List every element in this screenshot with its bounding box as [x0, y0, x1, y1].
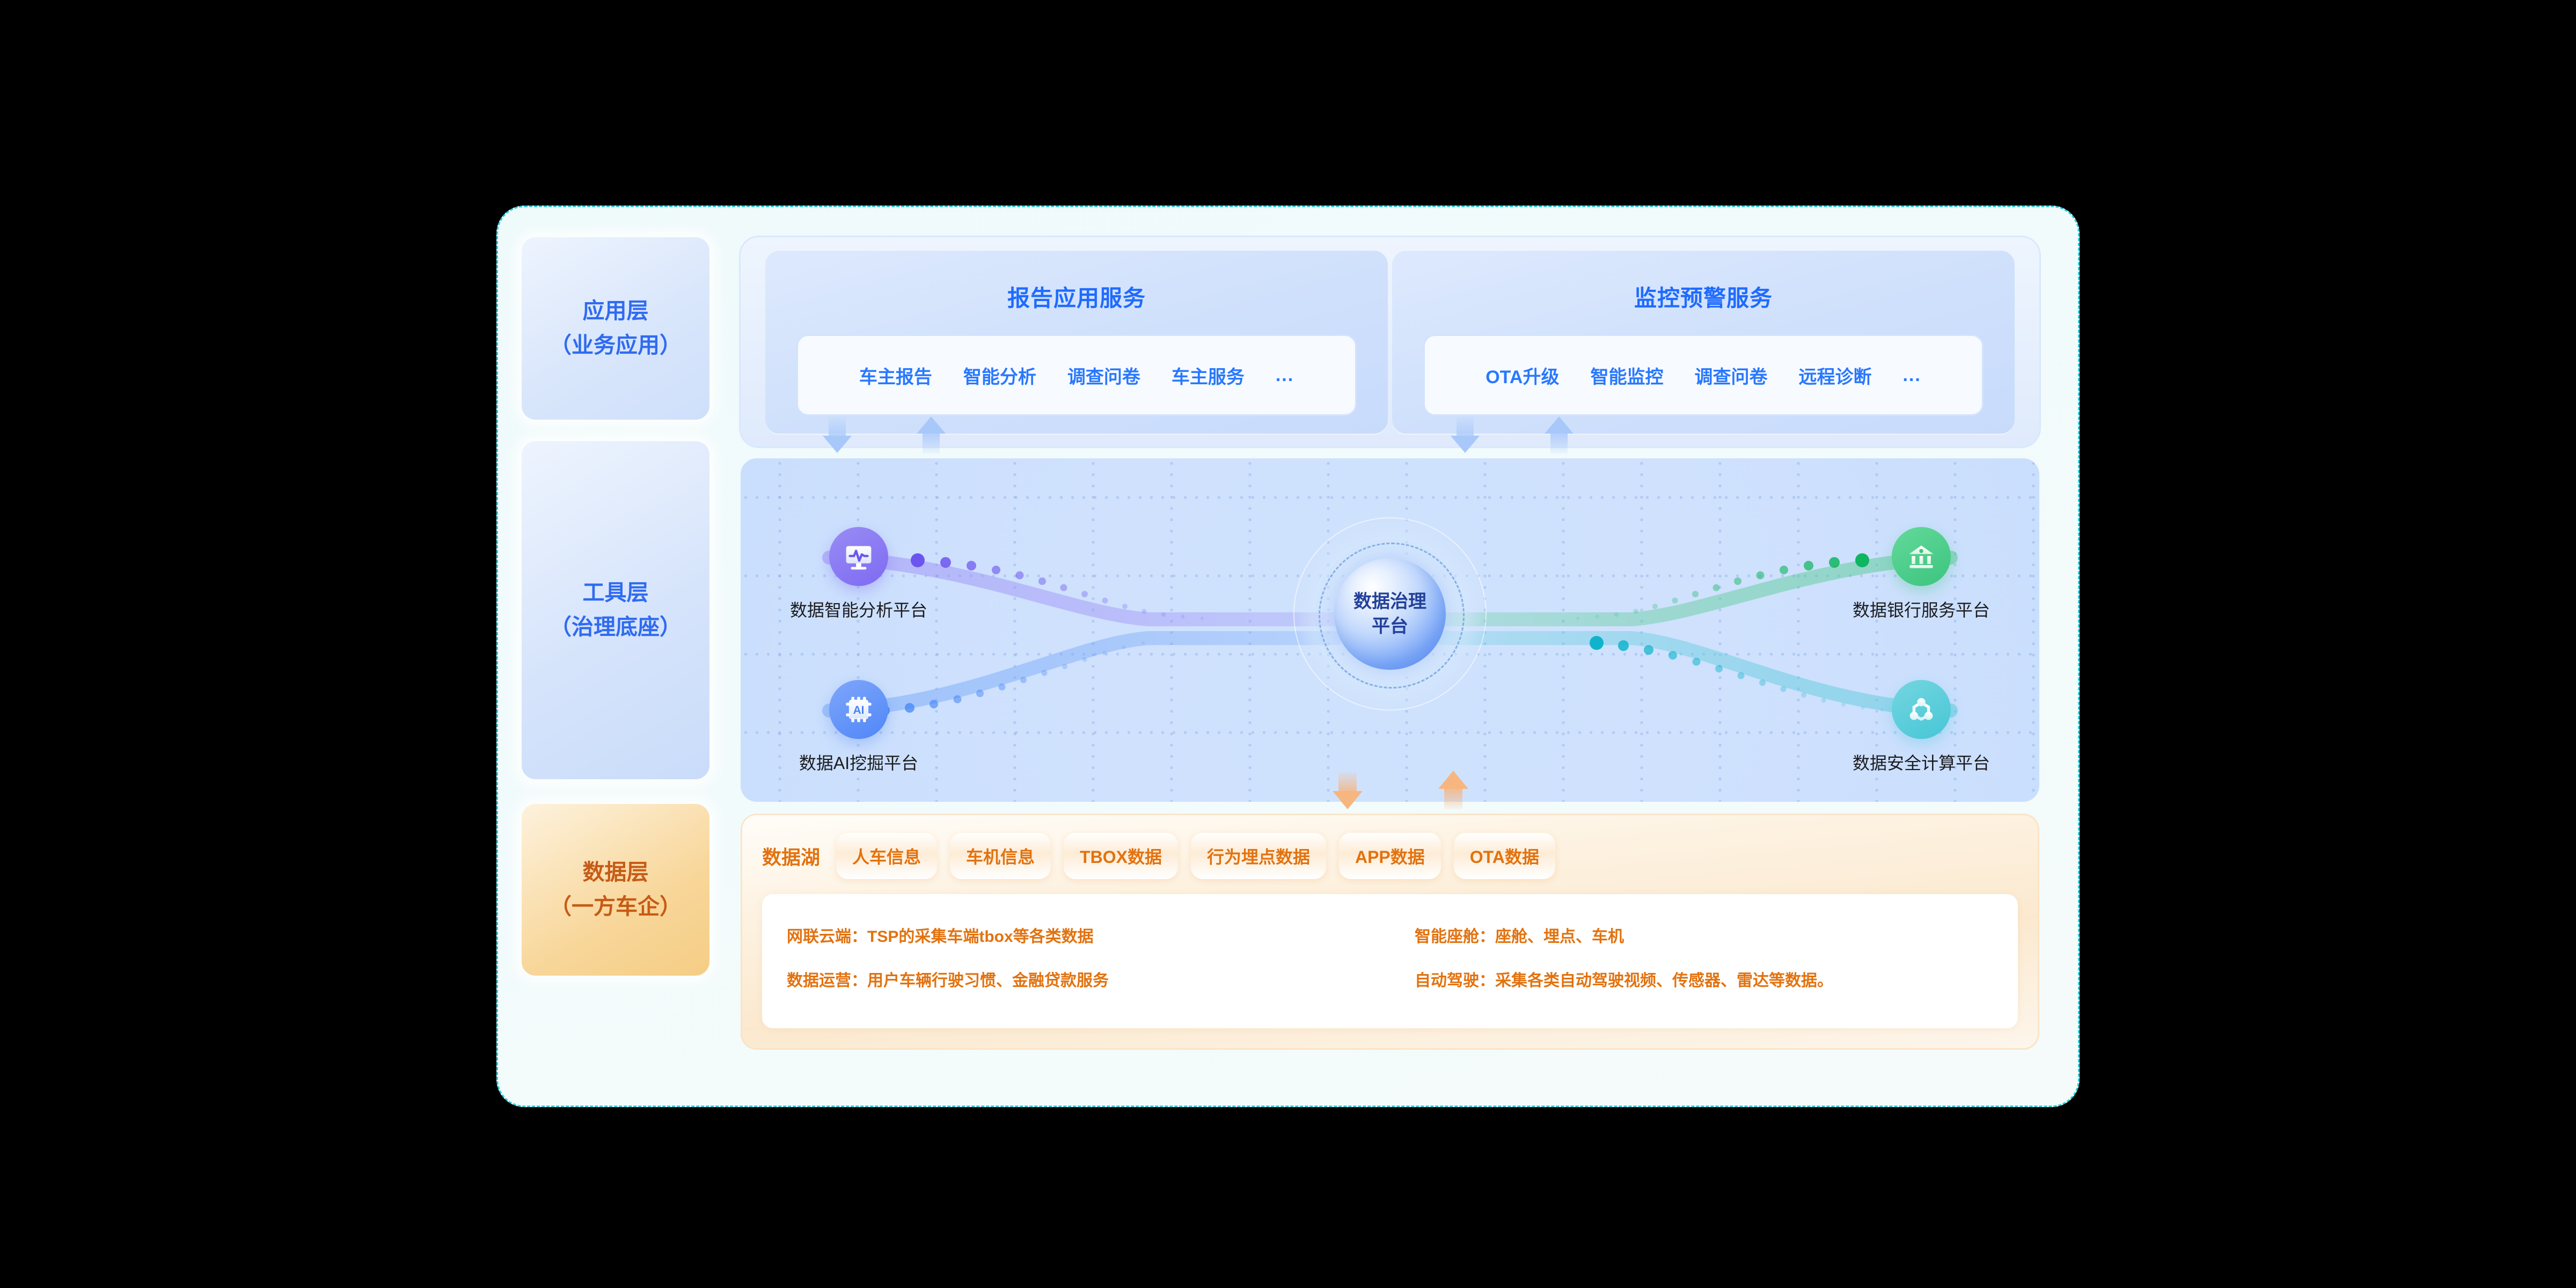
layer-chip-data-subtitle: （一方车企）	[550, 890, 682, 924]
data-layer-panel: 数据湖 人车信息 车机信息 TBOX数据 行为埋点数据 APP数据 OTA数据 …	[741, 814, 2039, 1050]
service-tag[interactable]: 远程诊断	[1798, 362, 1871, 389]
service-tag[interactable]: OTA升级	[1485, 362, 1559, 389]
data-description-line: 智能座舱：座舱、埋点、车机	[1415, 923, 2018, 947]
svg-text:AI: AI	[853, 704, 865, 716]
service-card-monitor-tags: OTA升级 智能监控 调查问卷 远程诊断 ...	[1423, 334, 1984, 416]
data-description-column-right: 智能座舱：座舱、埋点、车机 自动驾驶：采集各类自动驾驶视频、传感器、雷达等数据。	[1390, 894, 2018, 1028]
lake-tag[interactable]: 行为埋点数据	[1191, 833, 1326, 879]
layer-chip-data-title: 数据层	[583, 855, 649, 890]
service-card-report[interactable]: 报告应用服务 车主报告 智能分析 调查问卷 车主服务 ...	[765, 250, 1388, 434]
layer-chip-tool: 工具层 （治理底座）	[522, 441, 709, 779]
hub-label-line1: 数据治理	[1353, 591, 1426, 612]
tool-node-bank[interactable]: 数据银行服务平台	[1843, 527, 1999, 621]
monitor-pulse-icon	[829, 527, 888, 586]
data-lake-title: 数据湖	[762, 842, 820, 870]
lake-tag[interactable]: 人车信息	[836, 833, 937, 879]
lake-tag[interactable]: OTA数据	[1454, 833, 1555, 879]
lake-tag[interactable]: 车机信息	[950, 833, 1051, 879]
application-layer-panel: 报告应用服务 车主报告 智能分析 调查问卷 车主服务 ... 监控预警服务 OT…	[741, 237, 2039, 447]
tool-node-bank-label: 数据银行服务平台	[1843, 597, 1999, 621]
service-tag[interactable]: 车主报告	[859, 362, 932, 389]
layer-chip-tool-title: 工具层	[583, 576, 649, 610]
tool-node-secure[interactable]: 数据安全计算平台	[1843, 680, 1999, 774]
hub-label-line2: 平台	[1372, 616, 1408, 636]
ai-chip-icon: AI	[829, 680, 888, 739]
layer-chip-application-subtitle: （业务应用）	[550, 328, 682, 363]
layer-chip-data: 数据层 （一方车企）	[522, 804, 709, 976]
hub-sphere: 数据治理 平台	[1334, 558, 1446, 670]
service-card-monitor-title: 监控预警服务	[1392, 280, 2015, 313]
service-tag[interactable]: 智能监控	[1590, 362, 1663, 389]
architecture-diagram-container: 应用层 （业务应用） 工具层 （治理底座） 数据层 （一方车企） 报告应用服务 …	[496, 206, 2080, 1107]
data-description-column-left: 网联云端：TSP的采集车端tbox等各类数据 数据运营：用户车辆行驶习惯、金融贷…	[762, 894, 1390, 1028]
service-card-report-title: 报告应用服务	[765, 280, 1388, 313]
data-lake-row: 数据湖 人车信息 车机信息 TBOX数据 行为埋点数据 APP数据 OTA数据	[762, 832, 2018, 880]
tool-node-analysis[interactable]: 数据智能分析平台	[781, 527, 936, 621]
service-tag[interactable]: 车主服务	[1172, 362, 1245, 389]
data-description-card: 网联云端：TSP的采集车端tbox等各类数据 数据运营：用户车辆行驶习惯、金融贷…	[762, 894, 2018, 1028]
layer-chip-application-title: 应用层	[583, 294, 649, 328]
data-governance-hub[interactable]: 数据治理 平台	[1293, 517, 1487, 711]
service-tag[interactable]: 调查问卷	[1694, 362, 1767, 389]
tool-node-ai-label: 数据AI挖掘平台	[781, 750, 936, 774]
bank-icon	[1892, 527, 1951, 586]
layer-chip-application: 应用层 （业务应用）	[522, 237, 709, 420]
tool-layer-panel: 数据智能分析平台	[741, 458, 2039, 802]
service-tag[interactable]: 调查问卷	[1067, 362, 1140, 389]
service-tag[interactable]: 智能分析	[963, 362, 1036, 389]
tool-node-analysis-label: 数据智能分析平台	[781, 597, 936, 621]
service-card-report-tags: 车主报告 智能分析 调查问卷 车主服务 ...	[796, 334, 1357, 416]
data-description-line: 网联云端：TSP的采集车端tbox等各类数据	[787, 923, 1390, 947]
layer-chip-tool-subtitle: （治理底座）	[550, 610, 682, 645]
tool-node-secure-label: 数据安全计算平台	[1843, 750, 1999, 774]
hub-label: 数据治理 平台	[1353, 589, 1426, 639]
data-description-line: 自动驾驶：采集各类自动驾驶视频、传感器、雷达等数据。	[1415, 967, 2018, 991]
service-tag-more[interactable]: ...	[1276, 365, 1294, 386]
data-description-line: 数据运营：用户车辆行驶习惯、金融贷款服务	[787, 967, 1390, 991]
service-card-monitor[interactable]: 监控预警服务 OTA升级 智能监控 调查问卷 远程诊断 ...	[1392, 250, 2015, 434]
tool-node-ai[interactable]: AI 数据AI挖掘平台	[781, 680, 936, 774]
molecule-share-icon	[1892, 680, 1951, 739]
service-tag-more[interactable]: ...	[1902, 365, 1921, 386]
lake-tag[interactable]: TBOX数据	[1064, 833, 1178, 879]
lake-tag[interactable]: APP数据	[1339, 833, 1441, 879]
